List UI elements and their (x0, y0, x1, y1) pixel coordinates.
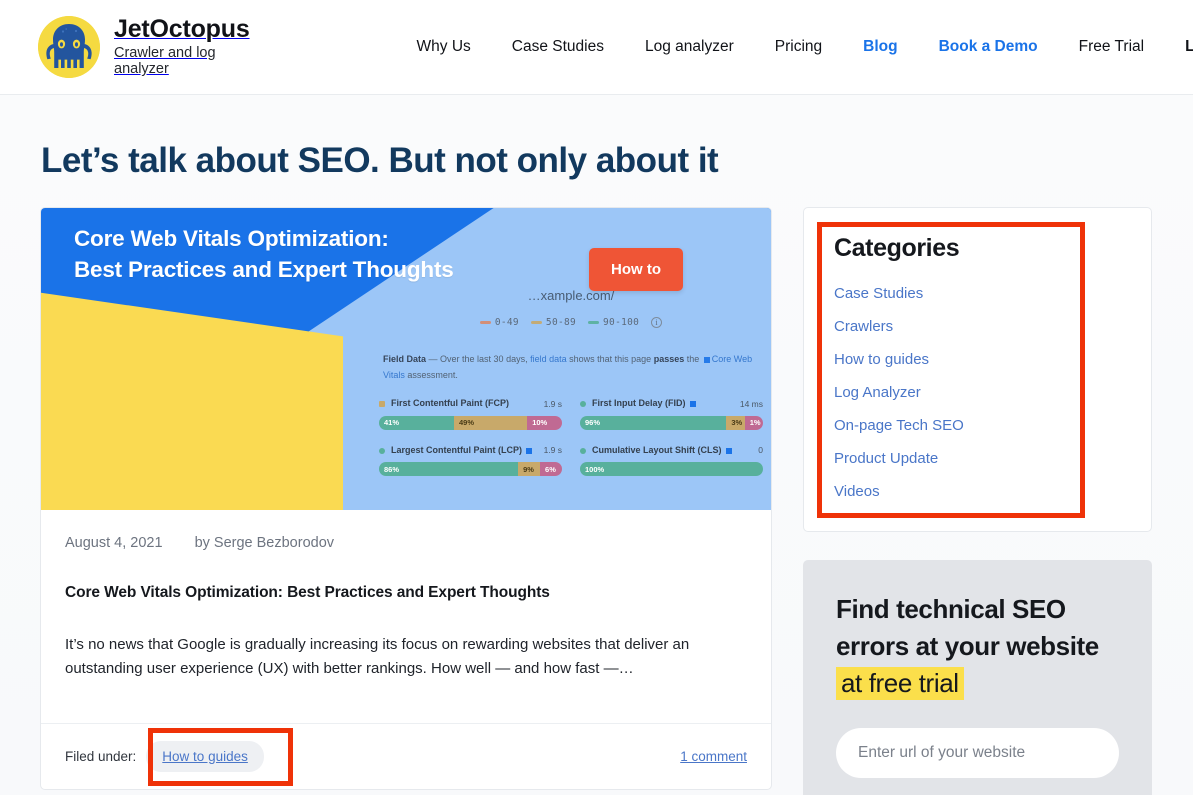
core-web-vitals-square-icon (704, 357, 710, 363)
list-item: Crawlers (834, 318, 1125, 336)
metric-fcp-seg-good: 41% (379, 416, 454, 430)
pagespeed-insights-mock: …xample.com/ 0-49 50-89 90-100 i (351, 286, 771, 476)
metric-fcp-seg-average: 49% (454, 416, 527, 430)
metric-fid: First Input Delay (FID) 14 ms 96% 3% 1% (580, 397, 763, 430)
metric-status-circle-icon (580, 401, 586, 407)
article-card[interactable]: …xample.com/ 0-49 50-89 90-100 i (40, 207, 772, 790)
legend-range-50-89: 50-89 (531, 316, 576, 330)
hero-title-line-2: Best Practices and Expert Thoughts (74, 254, 454, 285)
legend-chip-good-icon (588, 321, 599, 324)
field-data-lead: — Over the last 30 days, (429, 354, 528, 364)
list-item: Product Update (834, 450, 1125, 468)
article-meta: August 4, 2021 by Serge Bezborodov (41, 510, 771, 551)
list-item: Log Analyzer (834, 384, 1125, 402)
field-data-link: field data (530, 354, 567, 364)
pagespeed-url: …xample.com/ (379, 286, 763, 306)
categories-title: Categories (834, 234, 1125, 263)
categories-widget: Categories Case Studies Crawlers How to … (803, 207, 1152, 532)
pagespeed-score-legend: 0-49 50-89 90-100 i (379, 316, 763, 330)
list-item: How to guides (834, 351, 1125, 369)
metric-fid-seg-average: 3% (726, 416, 744, 430)
info-icon: i (651, 317, 662, 328)
field-data-the: the (687, 354, 700, 364)
nav-item-log-in[interactable]: Log In (1185, 38, 1193, 56)
metric-cls-distribution-bar: 100% (580, 462, 763, 476)
metric-fid-distribution-bar: 96% 3% 1% (580, 416, 763, 430)
main-navigation: Why Us Case Studies Log analyzer Pricing… (417, 38, 1193, 56)
metric-fcp-name: First Contentful Paint (FCP) (391, 397, 509, 411)
core-web-vitals-square-icon (726, 448, 732, 454)
pagespeed-metrics-grid: First Contentful Paint (FCP) 1.9 s 41% 4… (379, 397, 763, 476)
categories-list: Case Studies Crawlers How to guides Log … (830, 285, 1125, 501)
nav-item-pricing[interactable]: Pricing (775, 38, 822, 56)
metric-fcp: First Contentful Paint (FCP) 1.9 s 41% 4… (379, 397, 562, 430)
metric-cls-value: 0 (758, 444, 763, 457)
metric-lcp-seg-poor: 6% (540, 462, 562, 476)
how-to-badge: How to (589, 248, 683, 291)
metric-fcp-seg-poor: 10% (527, 416, 562, 430)
article-date: August 4, 2021 (65, 535, 163, 551)
metric-fcp-distribution-bar: 41% 49% 10% (379, 416, 562, 430)
hero-title: Core Web Vitals Optimization: Best Pract… (74, 223, 454, 285)
field-data-mid: shows that this page (569, 354, 651, 364)
category-link-how-to-guides[interactable]: How to guides (834, 351, 929, 368)
nav-item-free-trial[interactable]: Free Trial (1079, 38, 1144, 56)
pagespeed-field-data-note: Field Data — Over the last 30 days, fiel… (379, 352, 763, 384)
article-author: by Serge Bezborodov (195, 535, 334, 551)
metric-fid-name: First Input Delay (FID) (592, 397, 686, 411)
free-trial-promo-widget: Find technical SEO errors at your websit… (803, 560, 1152, 795)
metric-cls: Cumulative Layout Shift (CLS) 0 100% (580, 444, 763, 477)
nav-item-book-a-demo[interactable]: Book a Demo (939, 38, 1038, 56)
metric-lcp-value: 1.9 s (544, 444, 562, 457)
brand-tagline: Crawler and log analyzer (114, 46, 250, 78)
category-link-log-analyzer[interactable]: Log Analyzer (834, 384, 921, 401)
page-body: Let’s talk about SEO. But not only about… (0, 95, 1193, 795)
metric-lcp-name: Largest Contentful Paint (LCP) (391, 444, 522, 458)
promo-title-highlight: at free trial (836, 667, 964, 700)
metric-lcp-seg-average: 9% (518, 462, 540, 476)
core-web-vitals-square-icon (526, 448, 532, 454)
promo-title-text: Find technical SEO errors at your websit… (836, 594, 1099, 661)
promo-title: Find technical SEO errors at your websit… (836, 591, 1119, 702)
nav-item-why-us[interactable]: Why Us (417, 38, 471, 56)
field-data-label: Field Data (383, 354, 426, 364)
metric-cls-name: Cumulative Layout Shift (CLS) (592, 444, 722, 458)
article-footer: Filed under: How to guides 1 comment (41, 723, 771, 789)
site-header: JetOctopus Crawler and log analyzer Why … (0, 0, 1193, 95)
category-link-videos[interactable]: Videos (834, 483, 880, 500)
article-excerpt: It’s no news that Google is gradually in… (41, 617, 753, 708)
filed-under-label: Filed under: (65, 749, 136, 764)
content-layout: …xample.com/ 0-49 50-89 90-100 i (40, 207, 1153, 795)
legend-chip-average-icon (531, 321, 542, 324)
comment-count-link[interactable]: 1 comment (680, 749, 747, 764)
nav-item-blog[interactable]: Blog (863, 38, 897, 56)
field-data-passes: passes (654, 354, 685, 364)
field-data-tail: assessment. (407, 370, 458, 380)
category-link-product-update[interactable]: Product Update (834, 450, 938, 467)
metric-fid-seg-good: 96% (580, 416, 726, 430)
sidebar: Categories Case Studies Crawlers How to … (803, 207, 1152, 795)
metric-fcp-value: 1.9 s (544, 398, 562, 411)
list-item: Videos (834, 483, 1125, 501)
metric-status-circle-icon (379, 448, 385, 454)
page-title: Let’s talk about SEO. But not only about… (41, 95, 1153, 181)
category-link-on-page-tech-seo[interactable]: On-page Tech SEO (834, 417, 964, 434)
website-url-input[interactable] (836, 728, 1119, 778)
nav-item-log-analyzer[interactable]: Log analyzer (645, 38, 734, 56)
article-hero-image[interactable]: …xample.com/ 0-49 50-89 90-100 i (41, 208, 771, 510)
brand-name: JetOctopus (114, 15, 250, 43)
metric-status-circle-icon (580, 448, 586, 454)
metric-fid-value: 14 ms (740, 398, 763, 411)
hero-title-line-1: Core Web Vitals Optimization: (74, 223, 454, 254)
metric-lcp: Largest Contentful Paint (LCP) 1.9 s 86%… (379, 444, 562, 477)
category-link-case-studies[interactable]: Case Studies (834, 285, 923, 302)
metric-cls-seg-good: 100% (580, 462, 763, 476)
core-web-vitals-square-icon (690, 401, 696, 407)
list-item: On-page Tech SEO (834, 417, 1125, 435)
metric-fid-seg-poor: 1% (745, 416, 763, 430)
metric-lcp-distribution-bar: 86% 9% 6% (379, 462, 562, 476)
list-item: Case Studies (834, 285, 1125, 303)
hero-yellow-shape (41, 274, 343, 510)
nav-item-case-studies[interactable]: Case Studies (512, 38, 604, 56)
article-heading[interactable]: Core Web Vitals Optimization: Best Pract… (41, 564, 771, 602)
brand-logo-link[interactable]: JetOctopus Crawler and log analyzer (38, 16, 250, 78)
tag-how-to-guides[interactable]: How to guides (146, 741, 264, 772)
metric-status-square-icon (379, 401, 385, 407)
legend-range-0-49: 0-49 (480, 316, 519, 330)
category-link-crawlers[interactable]: Crawlers (834, 318, 893, 335)
jetoctopus-octopus-icon (38, 16, 100, 78)
legend-chip-poor-icon (480, 321, 491, 324)
legend-range-90-100: 90-100 (588, 316, 639, 330)
metric-lcp-seg-good: 86% (379, 462, 518, 476)
